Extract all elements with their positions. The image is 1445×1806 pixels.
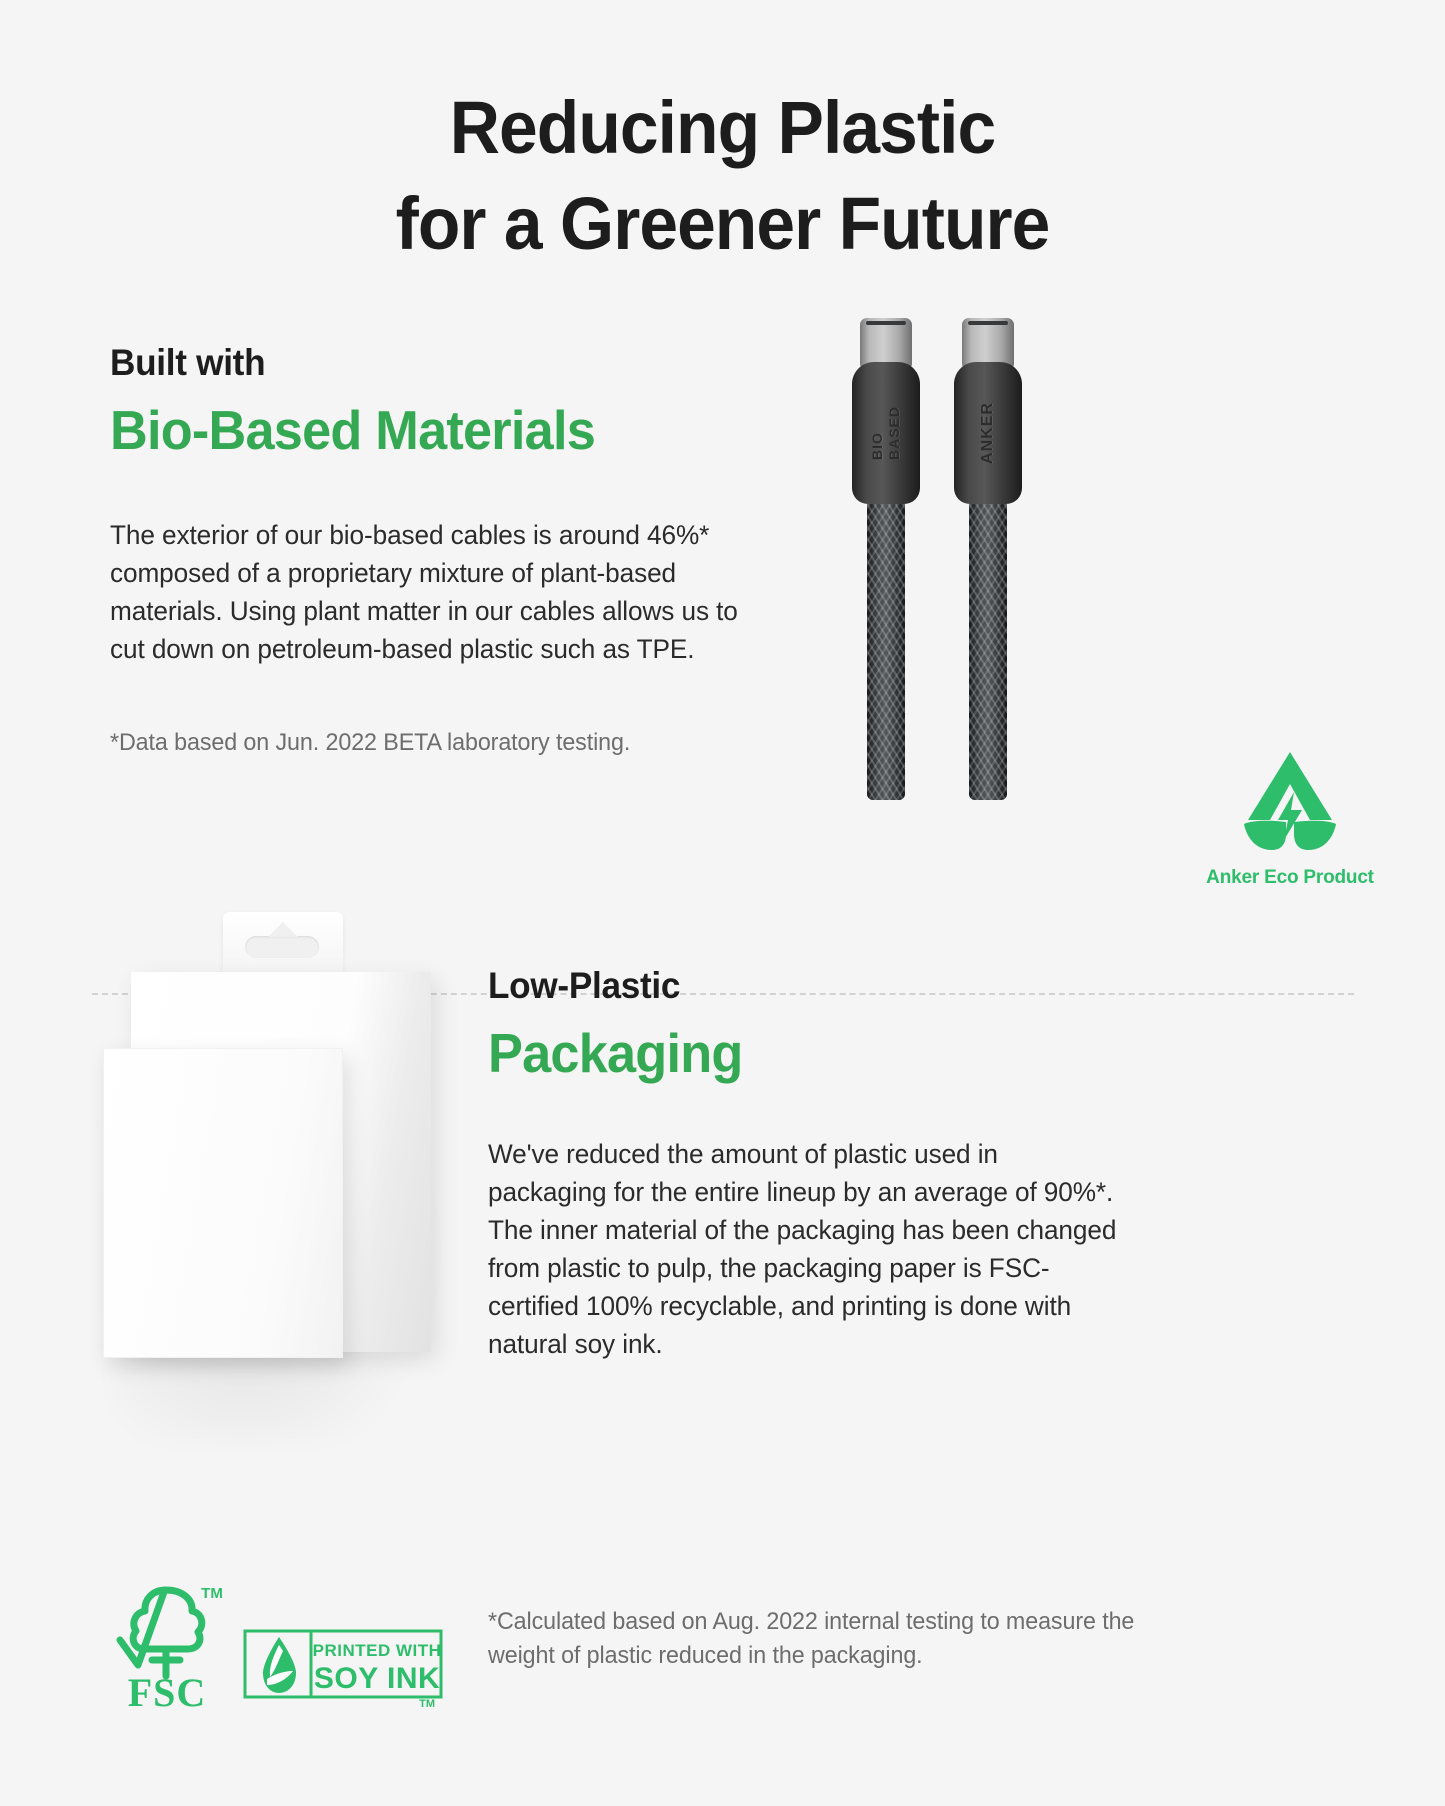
soy-ink-trademark: TM [419, 1698, 435, 1709]
bio-based-eyebrow: Built with [110, 340, 775, 386]
soy-ink-droplet-icon: PRINTED WITH SOY INK TM [243, 1627, 443, 1709]
packaging-box-illustration [95, 900, 475, 1440]
usb-c-cable-illustration: BIO BASED ANKER [830, 318, 1070, 808]
usb-c-tip-icon [962, 318, 1014, 368]
packaging-headline: Packaging [488, 1019, 1134, 1087]
bio-based-section-text: Built with Bio-Based Materials The exter… [110, 340, 810, 760]
fsc-wordmark: FSC [128, 1670, 207, 1710]
usb-c-tip-icon [860, 318, 912, 368]
anker-eco-leaf-bolt-icon [1232, 748, 1348, 856]
soy-ink-line-1: PRINTED WITH [313, 1641, 442, 1660]
eco-badge-caption: Anker Eco Product [1195, 867, 1385, 889]
page-title-line-2: for a Greener Future [43, 176, 1401, 272]
connector-label-anker: ANKER [979, 402, 997, 464]
anker-eco-product-badge: Anker Eco Product [1195, 748, 1385, 889]
cable-connector-anker: ANKER [954, 318, 1022, 800]
cable-connector-bio-based: BIO BASED [852, 318, 920, 800]
fsc-certification-logo: FSC TM [108, 1580, 228, 1715]
packaging-box-front-panel [103, 1048, 343, 1358]
soy-ink-line-2: SOY INK [314, 1662, 440, 1695]
packaging-footnote: *Calculated based on Aug. 2022 internal … [488, 1605, 1157, 1673]
hang-tab-hole [245, 936, 319, 958]
braided-cable-segment [969, 500, 1007, 800]
bio-based-body-text: The exterior of our bio-based cables is … [110, 516, 770, 668]
soy-ink-certification-logo: PRINTED WITH SOY INK TM [243, 1627, 443, 1714]
connector-label-bio-based: BIO BASED [869, 406, 903, 460]
packaging-section-text: Low-Plastic Packaging We've reduced the … [488, 963, 1168, 1363]
packaging-body-text: We've reduced the amount of plastic used… [488, 1135, 1123, 1363]
page-title: Reducing Plastic for a Greener Future [0, 80, 1445, 272]
connector-shell: BIO BASED [852, 362, 920, 504]
bio-based-headline: Bio-Based Materials [110, 396, 775, 464]
fsc-trademark: TM [201, 1585, 223, 1602]
connector-shell: ANKER [954, 362, 1022, 504]
bio-based-footnote: *Data based on Jun. 2022 BETA laboratory… [110, 726, 789, 760]
infographic-page: Reducing Plastic for a Greener Future Bu… [0, 0, 1445, 1806]
braided-cable-segment [867, 500, 905, 800]
page-title-line-1: Reducing Plastic [43, 80, 1401, 176]
fsc-tree-check-icon: FSC TM [108, 1580, 226, 1710]
packaging-eyebrow: Low-Plastic [488, 963, 1134, 1009]
